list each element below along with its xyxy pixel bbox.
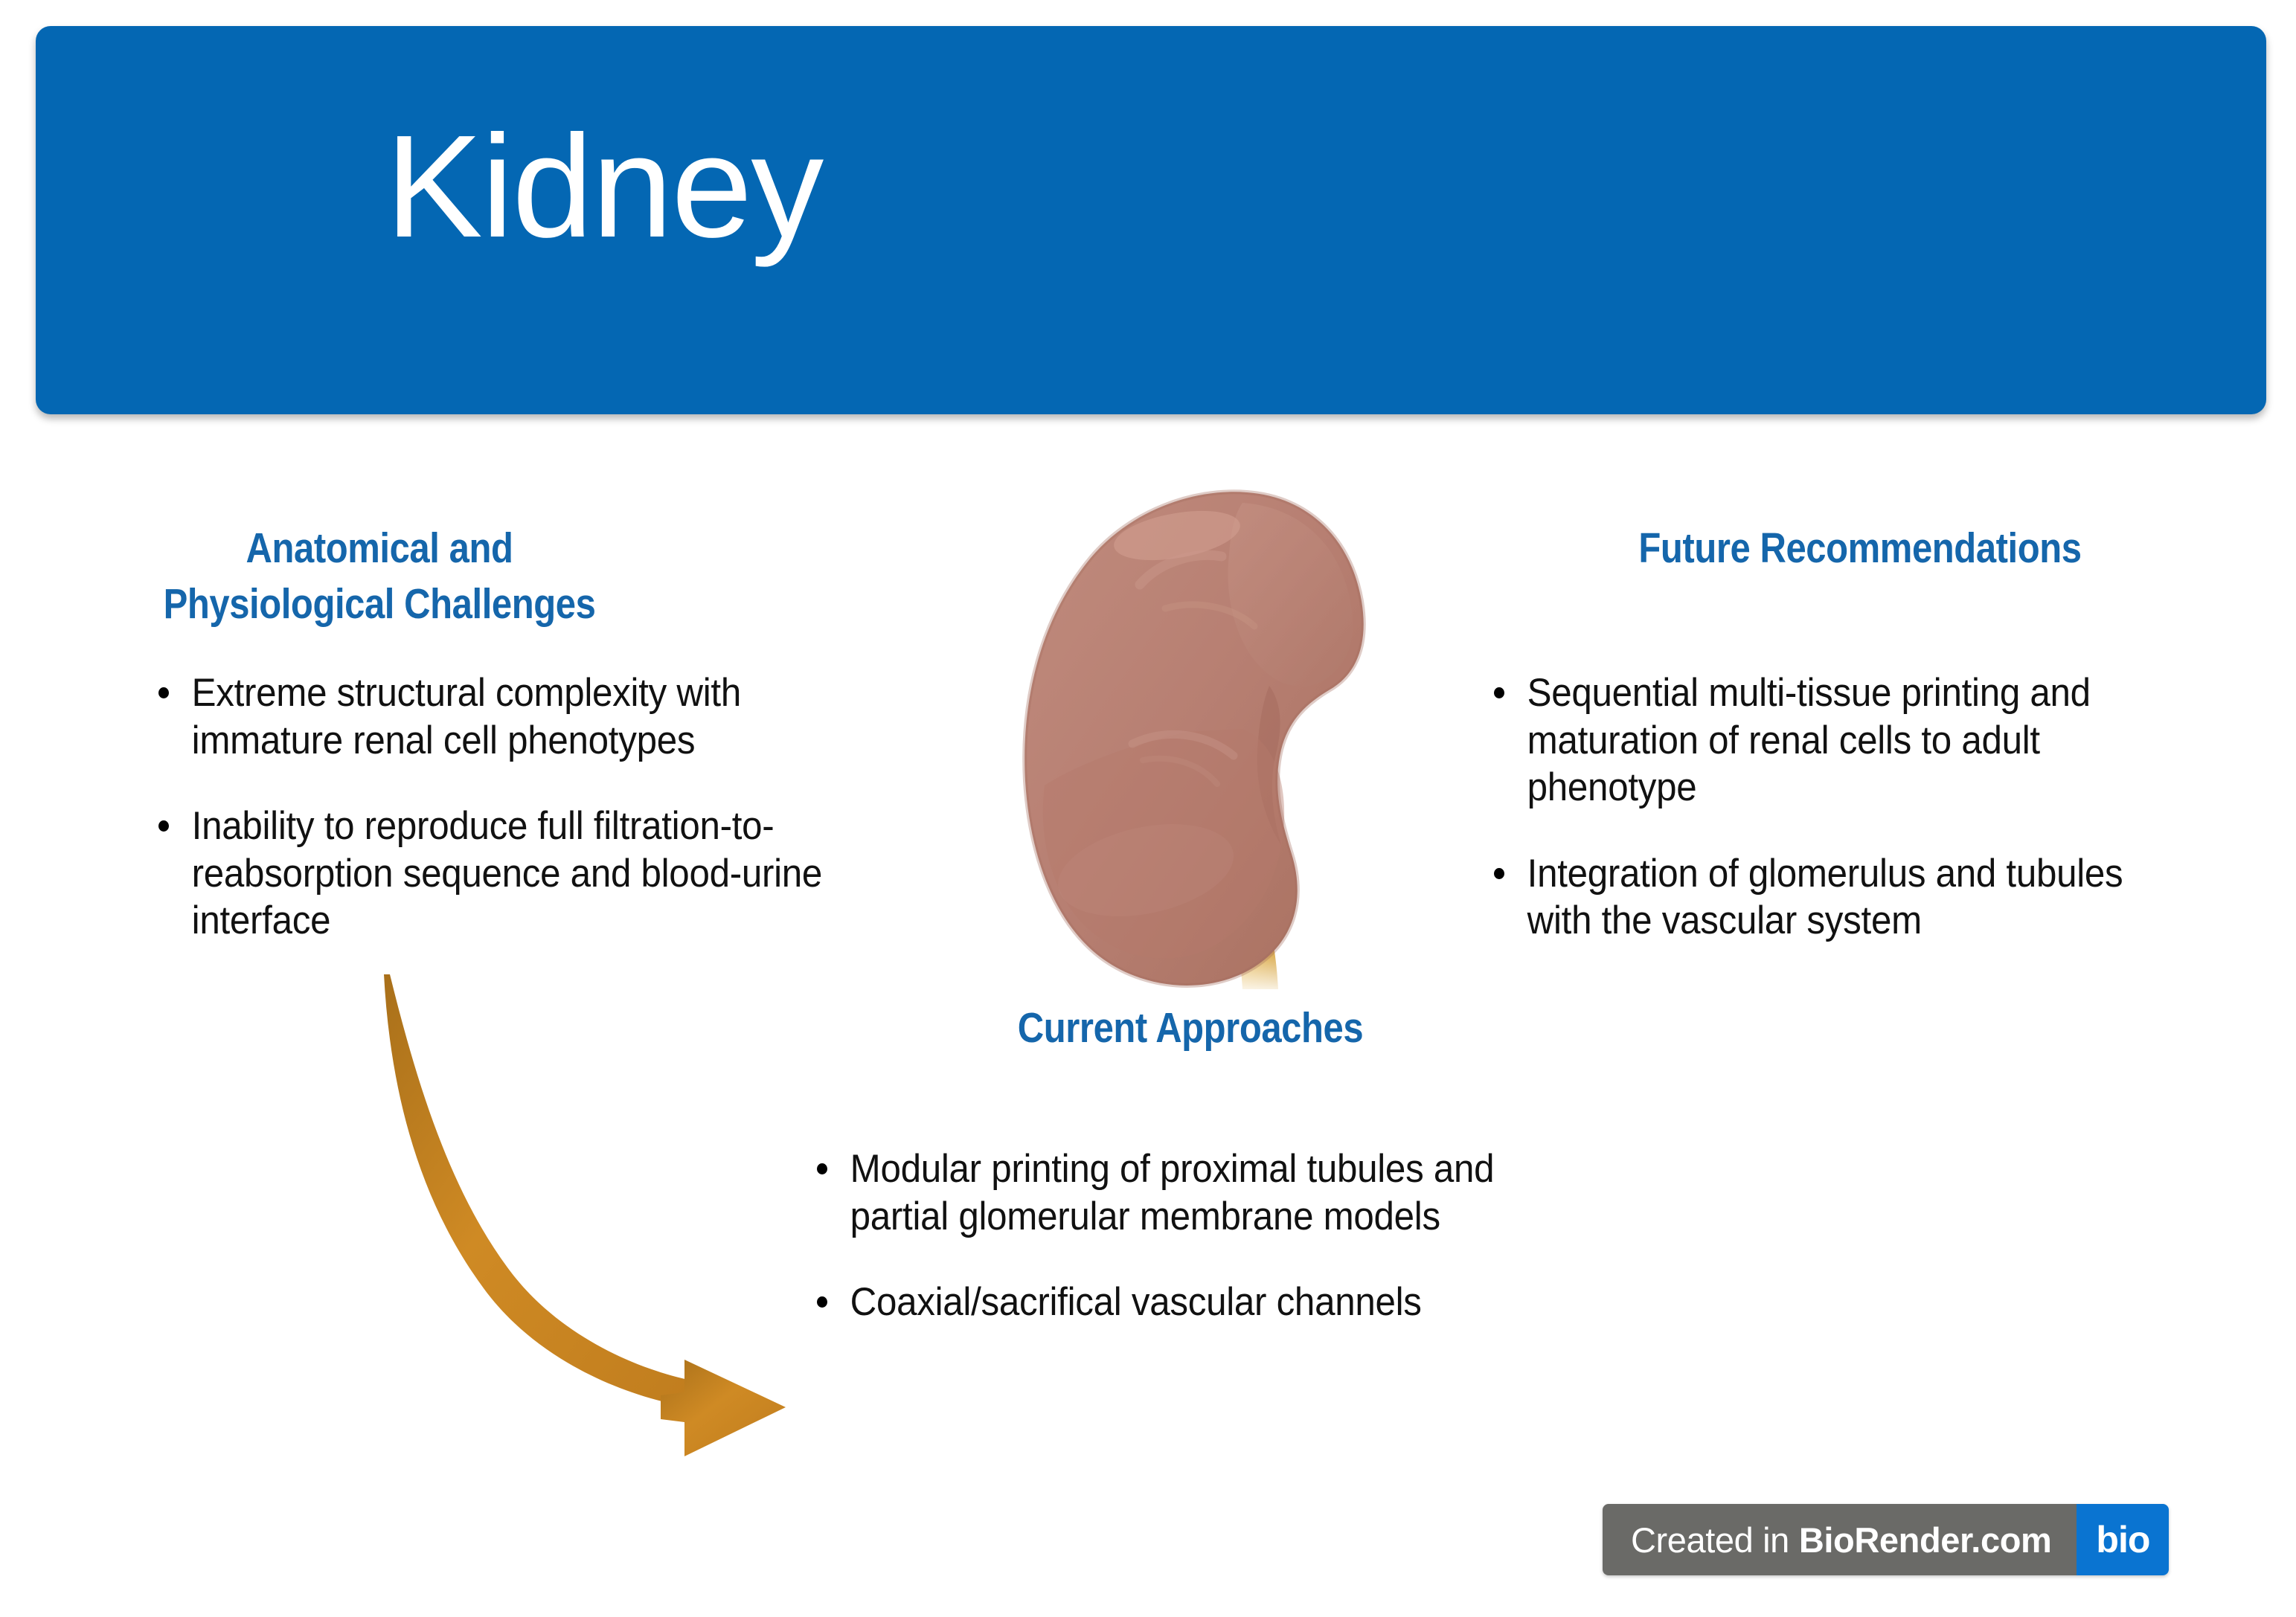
list-item: Integration of glomerulus and tubules wi…	[1484, 850, 2197, 945]
list-item: Modular printing of proximal tubules and…	[807, 1145, 1520, 1240]
list-item: Coaxial/sacrifical vascular channels	[807, 1279, 1520, 1326]
curved-arrow-icon	[312, 952, 848, 1495]
kidney-illustration	[1019, 483, 1466, 1004]
bullet-list-challenges: Extreme structural complexity with immat…	[149, 669, 900, 945]
heading-anatomical-physiological-challenges: Anatomical and Physiological Challenges	[143, 521, 616, 632]
watermark-prefix: Created in	[1631, 1520, 1789, 1560]
bullet-list-future-recommendations: Sequential multi-tissue printing and mat…	[1484, 669, 2251, 945]
header-banner: Kidney	[36, 26, 2266, 414]
renal-cortex-icon	[1024, 492, 1364, 986]
bullet-list-current-approaches: Modular printing of proximal tubules and…	[807, 1145, 1574, 1326]
flow-arrow	[312, 952, 848, 1495]
heading-current-approaches: Current Approaches	[960, 1000, 1420, 1056]
biorender-watermark: Created in BioRender.com bio	[1603, 1504, 2169, 1575]
kidney-svg	[1019, 483, 1466, 1004]
list-item: Extreme structural complexity with immat…	[149, 669, 847, 764]
page-title: Kidney	[385, 114, 822, 260]
list-item: Inability to reproduce full filtration-t…	[149, 803, 847, 945]
heading-line-2: Physiological Challenges	[143, 576, 616, 632]
heading-line-1: Anatomical and	[143, 521, 616, 576]
watermark-text: Created in BioRender.com	[1603, 1504, 2077, 1575]
watermark-brand: BioRender.com	[1799, 1520, 2052, 1560]
biorender-logo-icon: bio	[2077, 1504, 2169, 1575]
heading-future-recommendations: Future Recommendations	[1540, 521, 2180, 576]
list-item: Sequential multi-tissue printing and mat…	[1484, 669, 2197, 811]
